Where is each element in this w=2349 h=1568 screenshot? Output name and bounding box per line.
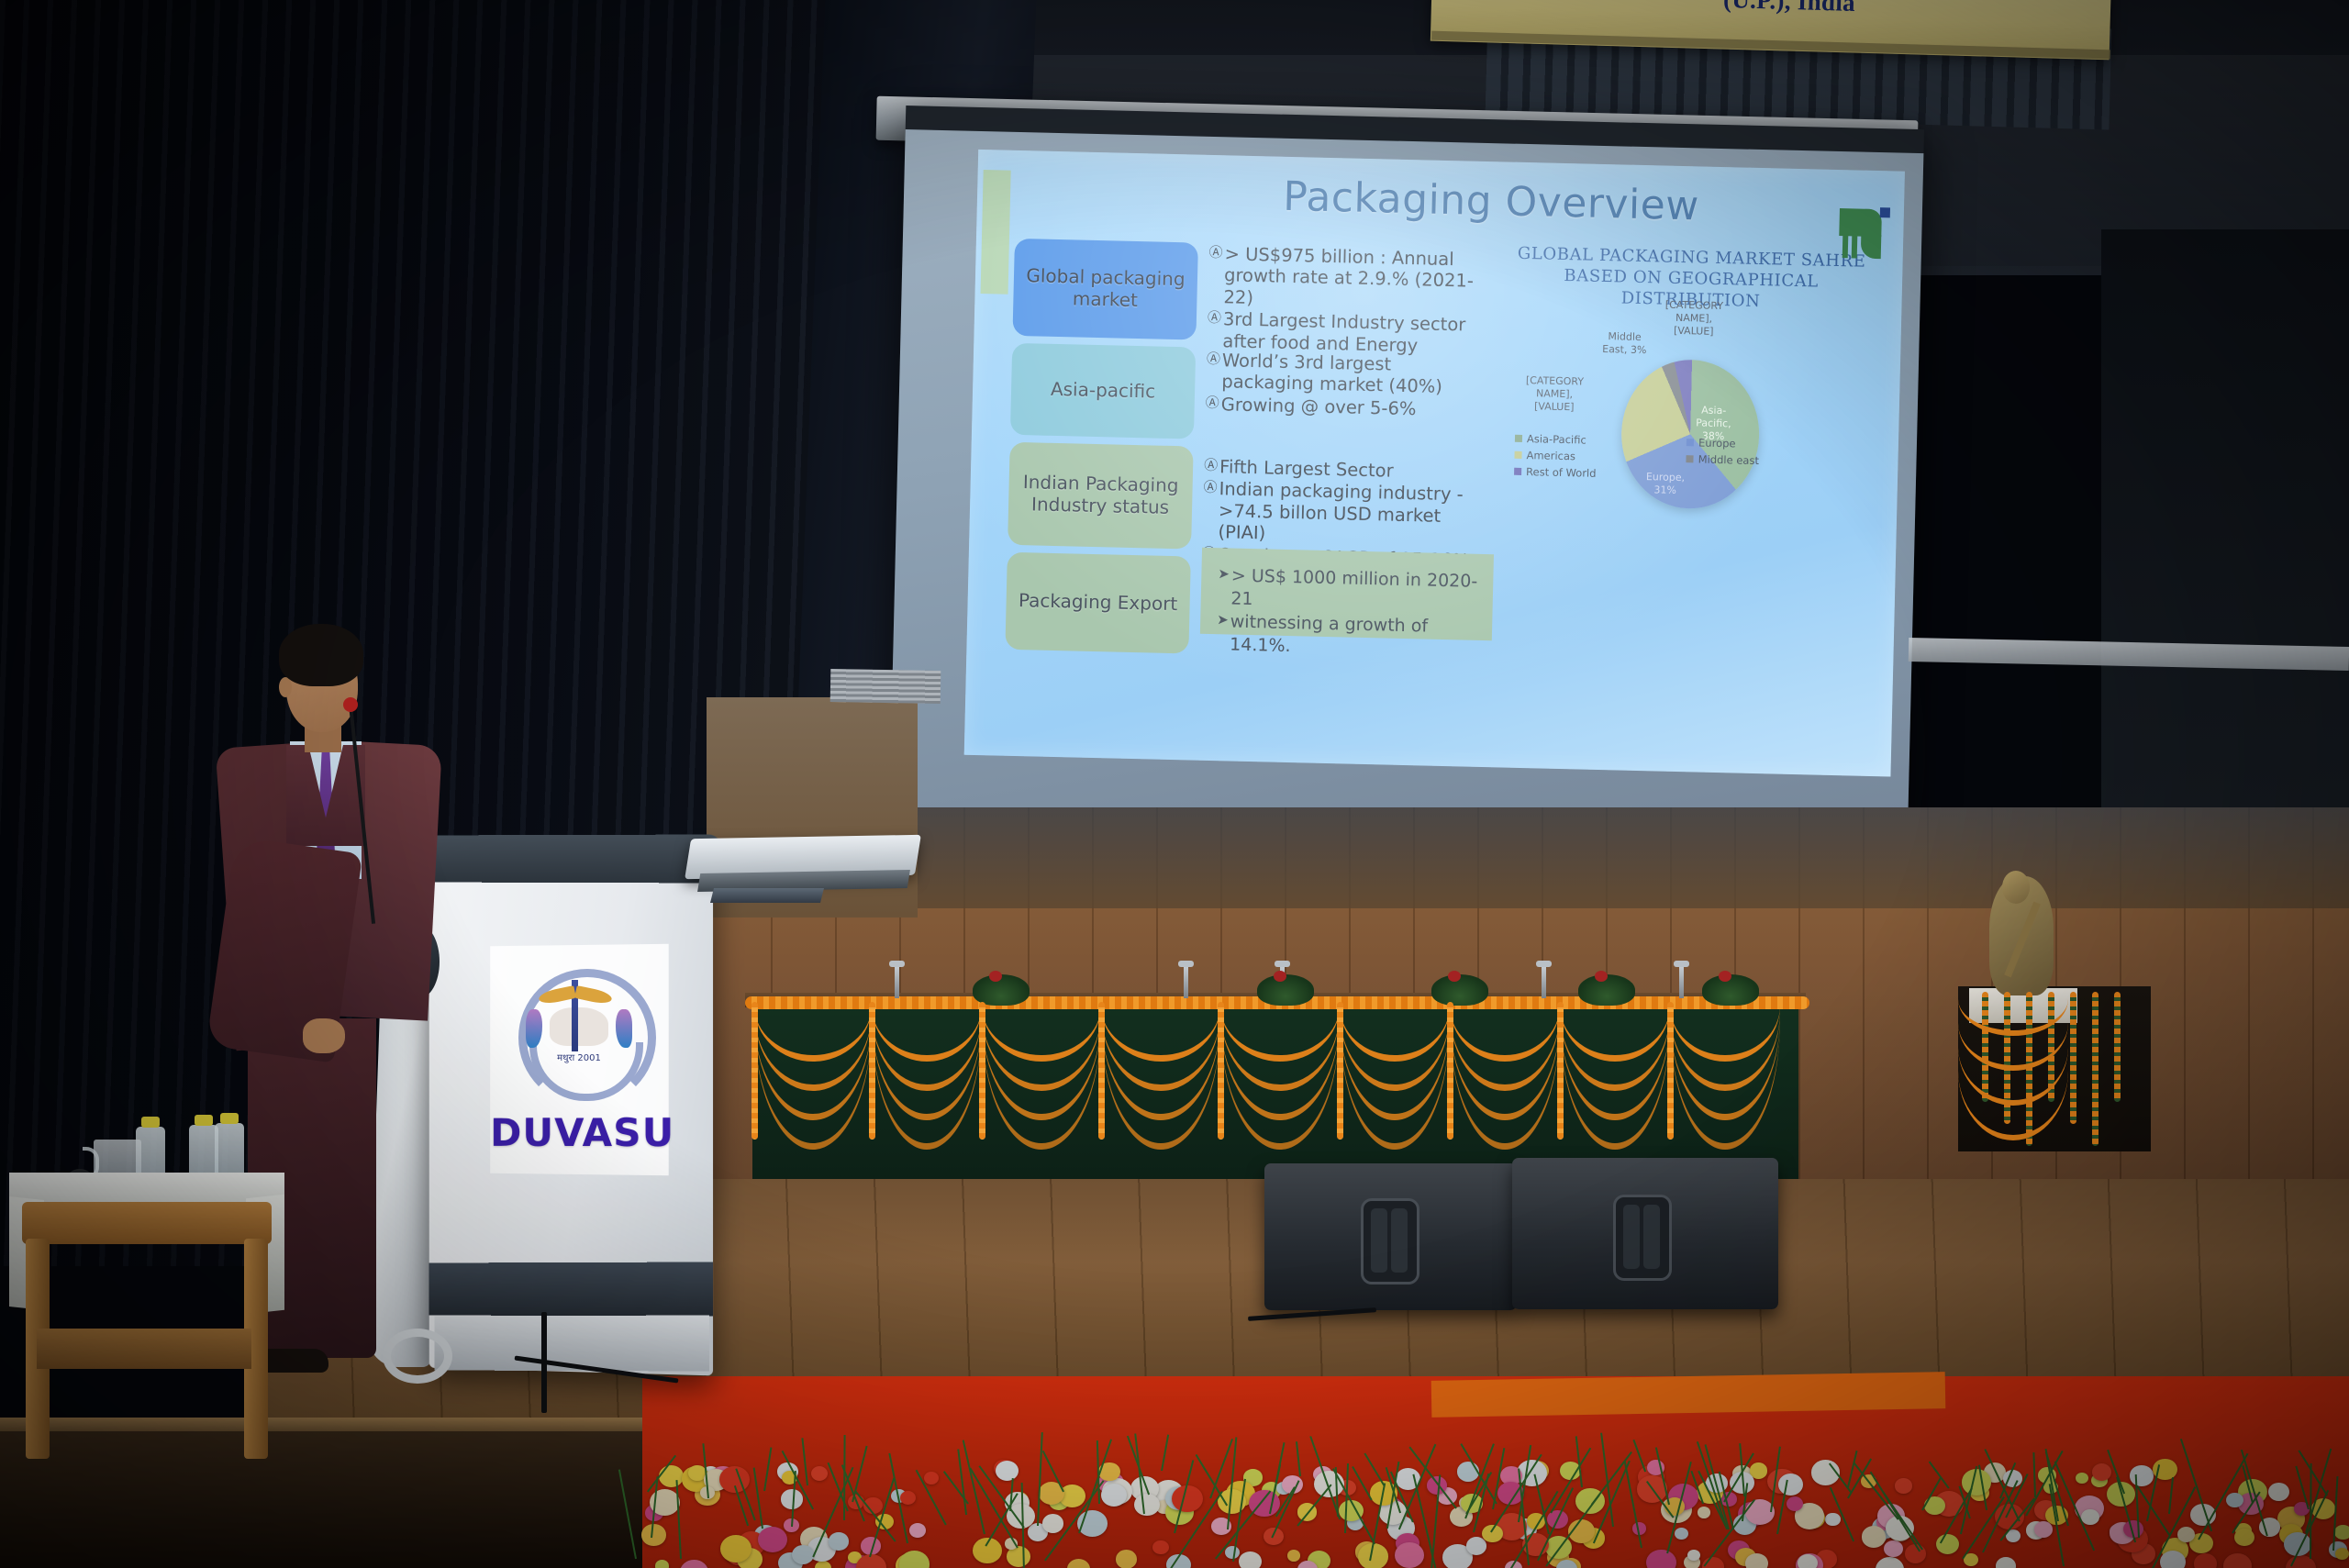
- flower: [1101, 1484, 1127, 1507]
- arrow-bullet-icon: ➤: [1217, 611, 1229, 630]
- statue-head: [2002, 871, 2030, 904]
- bullet-item: ➤ > US$ 1000 million in 2020-21: [1217, 564, 1480, 616]
- flower: [1895, 1478, 1912, 1493]
- bullet-item: Ⓐ > US$975 billion : Annual growth rate …: [1208, 243, 1485, 314]
- garland-vertical-strand: [1447, 1002, 1453, 1140]
- pie-label-middle-east: Middle East, 3%: [1596, 330, 1653, 357]
- flower: [1745, 1553, 1768, 1568]
- flower: [1687, 1550, 1700, 1561]
- flower: [811, 1466, 829, 1481]
- side-table: [9, 1101, 284, 1459]
- legend-item: Rest of World: [1514, 465, 1686, 482]
- flower: [1884, 1540, 1903, 1558]
- bullet-text: Indian packaging industry ->74.5 billon …: [1218, 479, 1479, 550]
- slide-accent-bar: [981, 170, 1011, 295]
- flower: [1134, 1494, 1160, 1516]
- flower: [1862, 1526, 1886, 1547]
- flower: [1116, 1550, 1138, 1568]
- shrine-garland-strand: [2114, 992, 2121, 1102]
- table-microphone: [895, 965, 899, 998]
- logo-bar-1: [1842, 234, 1849, 258]
- pie-chart-block: Global packaging market Sahre based on G…: [1497, 243, 1876, 710]
- flower: [1287, 1550, 1300, 1562]
- palm-frond: [852, 1446, 869, 1503]
- bullet-item: Ⓐ World’s 3rd largest packaging market (…: [1206, 350, 1482, 399]
- flower: [2268, 1483, 2289, 1501]
- garland-vertical-strand: [1218, 1002, 1224, 1140]
- palm-frond: [1928, 1461, 1949, 1488]
- legend-item: Asia-Pacific: [1515, 432, 1687, 449]
- pie-label-americas: [CATEGORY NAME], [VALUE]: [1525, 374, 1585, 414]
- garland-vertical-strand: [1557, 1002, 1564, 1140]
- flower: [655, 1560, 670, 1568]
- table-flower-pot: [1257, 974, 1314, 1006]
- category-box-column: Global packaging market Asia-pacific Ind…: [1005, 239, 1198, 662]
- flower: [1152, 1540, 1168, 1554]
- logo-leaf-shape: [1839, 208, 1882, 237]
- palm-frond: [1161, 1435, 1169, 1472]
- flower: [2081, 1509, 2099, 1525]
- palm-frond: [675, 1480, 681, 1559]
- flower: [1239, 1551, 1262, 1568]
- bottle-cap-icon: [195, 1115, 213, 1126]
- palm-frond: [763, 1448, 772, 1492]
- speaker-slot: [1643, 1205, 1660, 1269]
- air-vent: [830, 669, 941, 704]
- presenter-hand: [303, 1018, 345, 1053]
- palm-frond: [2310, 1463, 2312, 1559]
- bullet-group-indian-industry: Ⓐ Fifth Largest Sector Ⓐ Indian packagin…: [1202, 450, 1480, 563]
- flower: [924, 1472, 939, 1485]
- bottle-cap-icon: [141, 1117, 160, 1128]
- legend-item: Europe: [1687, 436, 1858, 452]
- palm-frond: [1364, 1452, 1385, 1486]
- speaker-port: [1361, 1198, 1419, 1284]
- speaker-slot: [1371, 1208, 1387, 1273]
- garland-vertical-strand: [1337, 1002, 1343, 1140]
- palm-frond: [828, 1462, 849, 1512]
- pie-chart: [CATEGORY NAME], [VALUE] Middle East, 3%…: [1585, 345, 1790, 520]
- logo-square: [1880, 207, 1890, 217]
- flower: [1876, 1557, 1904, 1568]
- flower: [659, 1465, 684, 1487]
- flower: [996, 1461, 1019, 1481]
- bullet-text: > US$975 billion : Annual growth rate at…: [1223, 243, 1485, 314]
- flower: [720, 1535, 751, 1562]
- flower: [680, 1560, 708, 1568]
- flower: [641, 1524, 666, 1545]
- bottle-cap-icon: [220, 1113, 239, 1124]
- garland-vertical-strand: [751, 1002, 758, 1140]
- stage-monitor-speaker: [1264, 1163, 1517, 1310]
- flower: [1675, 1528, 1688, 1540]
- flower: [2034, 1521, 2053, 1538]
- bullet-glyph-icon: Ⓐ: [1208, 308, 1221, 328]
- legend-label: Rest of World: [1526, 465, 1597, 480]
- flower: [899, 1551, 930, 1568]
- flower: [815, 1561, 831, 1568]
- palm-frond: [734, 1485, 749, 1526]
- speaker-slot: [1391, 1208, 1408, 1273]
- arrow-bullet-icon: ➤: [1218, 564, 1230, 584]
- auditorium-stage-photo: (U.P.), India hura Packaging Overview Gl…: [0, 0, 2349, 1568]
- bullet-text: World’s 3rd largest packaging market (40…: [1221, 350, 1482, 398]
- flower: [758, 1527, 787, 1552]
- garland-vertical-strand: [979, 1002, 985, 1140]
- table-microphone: [1679, 965, 1684, 998]
- side-table-shelf: [37, 1329, 251, 1369]
- flower: [1825, 1513, 1841, 1527]
- flower: [909, 1523, 926, 1538]
- bullet-glyph-icon: Ⓐ: [1207, 350, 1220, 369]
- flower: [2335, 1548, 2349, 1560]
- flower: [1936, 1534, 1959, 1554]
- flower: [1067, 1559, 1091, 1568]
- flower: [1778, 1473, 1803, 1496]
- laptop-tray-arm: [710, 888, 824, 903]
- bullet-glyph-icon: Ⓐ: [1206, 394, 1219, 413]
- legend-swatch-icon: [1514, 451, 1521, 459]
- flower: [1996, 1557, 2016, 1568]
- flower: [2177, 1527, 2196, 1542]
- legend-label: Europe: [1698, 436, 1736, 450]
- flower: [2130, 1465, 2153, 1485]
- podium-org-abbreviation: DUVASU: [490, 1110, 669, 1155]
- garland-vertical-strand: [1667, 1002, 1674, 1140]
- shrine-garland-strand: [2070, 992, 2076, 1124]
- emblem-year-text: मथुरा 2001: [506, 1053, 652, 1063]
- bullet-text: > US$ 1000 million in 2020-21: [1230, 565, 1481, 617]
- shrine-garland-strand: [2092, 992, 2099, 1146]
- bullet-group-asia-pacific: Ⓐ World’s 3rd largest packaging market (…: [1205, 342, 1483, 451]
- flower: [2234, 1529, 2254, 1546]
- legend-swatch-icon: [1514, 468, 1521, 475]
- bullet-item: ➤ witnessing a growth of 14.1%.: [1216, 611, 1479, 662]
- legend-swatch-icon: [1515, 435, 1522, 442]
- flower: [1172, 1485, 1203, 1513]
- flower: [2223, 1553, 2253, 1568]
- slide-title: Packaging Overview: [1207, 172, 1776, 232]
- saraswati-statue-shrine: [1945, 876, 2165, 1151]
- palm-frond: [2168, 1477, 2174, 1514]
- logo-bar-2: [1852, 234, 1858, 258]
- flower: [1395, 1542, 1424, 1568]
- emblem-map-right: [616, 1009, 632, 1048]
- flower: [1042, 1514, 1063, 1533]
- table-flower-pot: [1702, 974, 1759, 1006]
- flower: [2226, 1493, 2243, 1507]
- flower: [792, 1545, 814, 1564]
- bullet-group-global: Ⓐ > US$975 billion : Annual growth rate …: [1208, 243, 1485, 343]
- duvasu-university-emblem-icon: मथुरा 2001: [506, 956, 652, 1103]
- projection-screen: Packaging Overview Global packaging mark…: [889, 106, 1924, 845]
- flower: [2334, 1525, 2349, 1540]
- category-box-asia-pacific: Asia-pacific: [1010, 343, 1196, 439]
- legend-label: Americas: [1526, 449, 1575, 462]
- flower: [1962, 1469, 1992, 1496]
- bullet-glyph-icon: Ⓐ: [1208, 243, 1222, 262]
- speaker-slot: [1623, 1205, 1640, 1269]
- flower: [2092, 1463, 2111, 1481]
- flower: [2194, 1553, 2218, 1568]
- bullet-text-column: Ⓐ > US$975 billion : Annual growth rate …: [1202, 243, 1485, 569]
- side-table-apron: [22, 1202, 272, 1244]
- flower-arrangement: [633, 1431, 2349, 1568]
- flower: [1646, 1550, 1676, 1568]
- palm-frond: [1632, 1440, 1646, 1472]
- speaker-port: [1613, 1195, 1672, 1281]
- stage-monitor-speaker: [1512, 1158, 1778, 1309]
- legend-swatch-icon: [1687, 455, 1694, 462]
- legend-label: Middle east: [1698, 452, 1760, 467]
- presentation-slide: Packaging Overview Global packaging mark…: [964, 150, 1905, 777]
- bullet-glyph-icon: Ⓐ: [1204, 456, 1218, 475]
- mic-stand-cable: [541, 1312, 547, 1413]
- garland-vertical-strand: [1098, 1002, 1105, 1140]
- flower: [1798, 1554, 1818, 1568]
- microphone-icon: [343, 697, 358, 712]
- table-flower-pot: [1431, 974, 1488, 1006]
- packaging-for-better-living-logo-icon: [1826, 195, 1896, 261]
- table-flower-pot: [1578, 974, 1635, 1006]
- legend-item: Middle east: [1687, 452, 1858, 469]
- category-box-global-market: Global packaging market: [1012, 239, 1197, 340]
- garland-vertical-strand: [869, 1002, 875, 1140]
- chart-legend: Asia-Pacific Europe Americas Middle east…: [1514, 432, 1873, 490]
- category-box-indian-industry: Indian Packaging Industry status: [1008, 442, 1194, 550]
- flower: [2076, 1473, 2089, 1485]
- palm-frond: [1854, 1462, 1899, 1520]
- right-dark-wall: [2101, 229, 2349, 872]
- palm-frond: [2032, 1452, 2036, 1497]
- flower: [900, 1491, 917, 1506]
- table-microphone: [1542, 965, 1546, 998]
- bullet-glyph-icon: Ⓐ: [1203, 478, 1217, 497]
- legend-label: Asia-Pacific: [1527, 432, 1586, 447]
- category-box-packaging-export: Packaging Export: [1005, 552, 1190, 654]
- legend-item: Americas: [1514, 449, 1686, 465]
- bullet-text: witnessing a growth of 14.1%.: [1230, 611, 1480, 662]
- bullet-item: Ⓐ Indian packaging industry ->74.5 billo…: [1202, 478, 1479, 549]
- palm-frond: [843, 1435, 846, 1520]
- palm-frond: [1037, 1432, 1043, 1526]
- pie-label-rest-of-world: [CATEGORY NAME], [VALUE]: [1664, 299, 1724, 339]
- table-flower-pot: [973, 974, 1030, 1006]
- flower: [829, 1532, 849, 1550]
- table-microphone: [1184, 965, 1188, 998]
- emblem-cow: [550, 1007, 608, 1046]
- flower: [1698, 1507, 1711, 1518]
- logo-bar-3: [1861, 235, 1882, 260]
- legend-swatch-icon: [1687, 439, 1694, 446]
- packaging-export-callout: ➤ > US$ 1000 million in 2020-21 ➤ witnes…: [1200, 548, 1494, 640]
- flower: [2160, 1551, 2186, 1568]
- palm-frond: [1296, 1441, 1301, 1476]
- presenter-hair: [279, 624, 363, 686]
- palm-frond: [801, 1438, 808, 1485]
